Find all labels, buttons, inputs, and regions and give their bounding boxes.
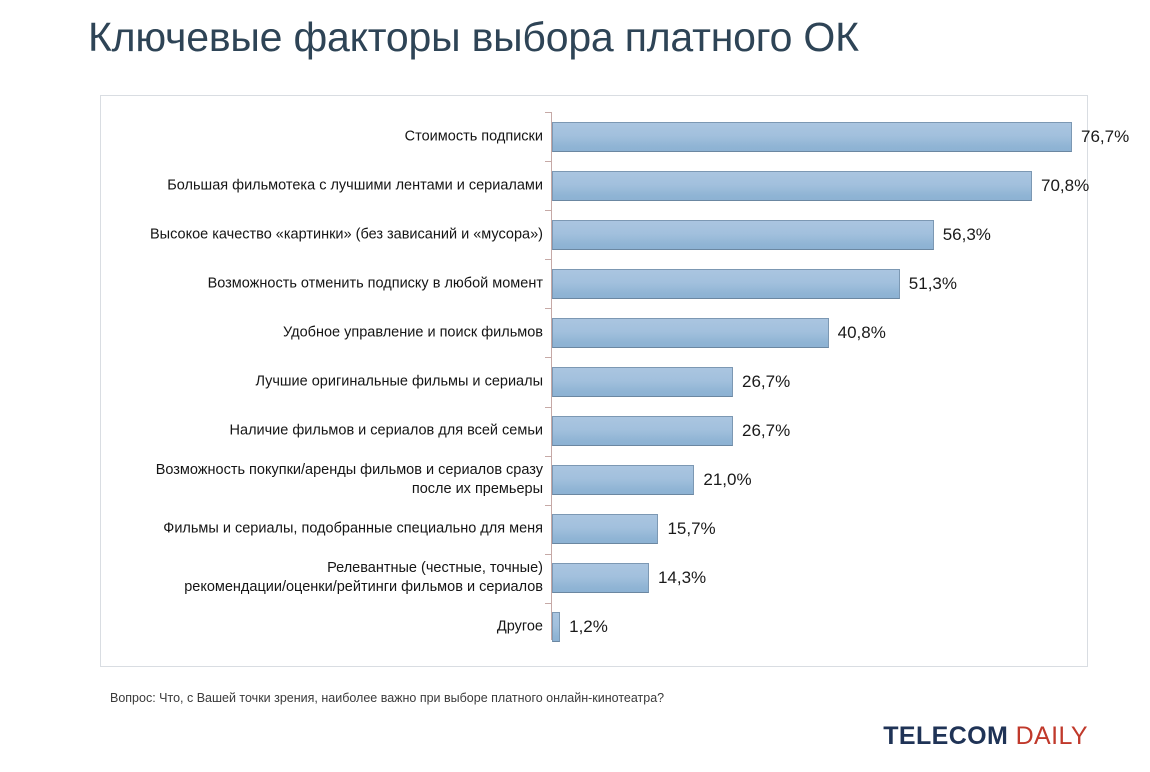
bar[interactable] [552, 122, 1072, 152]
bar-value-label: 1,2% [569, 617, 608, 637]
axis-tick [545, 505, 551, 506]
bar-value-label: 26,7% [742, 421, 790, 441]
chart-frame: Стоимость подписки76,7%Большая фильмотек… [100, 95, 1088, 667]
bar-category-label: Большая фильмотека с лучшими лентами и с… [103, 176, 543, 195]
axis-tick [545, 259, 551, 260]
bar[interactable] [552, 612, 560, 642]
logo-secondary-text: DAILY [1016, 722, 1088, 750]
bar[interactable] [552, 220, 934, 250]
telecom-daily-logo: TELECOM DAILY [883, 722, 1088, 751]
bar-chart-plot-area: Стоимость подписки76,7%Большая фильмотек… [101, 96, 1087, 666]
bar[interactable] [552, 514, 658, 544]
axis-tick [545, 112, 551, 113]
bar[interactable] [552, 563, 649, 593]
bar[interactable] [552, 465, 694, 495]
bar-row: Возможность отменить подписку в любой мо… [101, 259, 1087, 308]
bar[interactable] [552, 416, 733, 446]
axis-tick [545, 308, 551, 309]
bar-value-label: 70,8% [1041, 176, 1089, 196]
bar-category-label: Стоимость подписки [103, 127, 543, 146]
axis-tick [545, 407, 551, 408]
bar-row: Удобное управление и поиск фильмов40,8% [101, 308, 1087, 357]
bar-category-label: Возможность покупки/аренды фильмов и сер… [103, 461, 543, 499]
bar-value-label: 76,7% [1081, 127, 1129, 147]
bar-value-label: 14,3% [658, 568, 706, 588]
axis-tick [545, 161, 551, 162]
bar-value-label: 51,3% [909, 274, 957, 294]
bar-category-label: Удобное управление и поиск фильмов [103, 323, 543, 342]
axis-tick [545, 456, 551, 457]
bar-category-label: Фильмы и сериалы, подобранные специально… [103, 520, 543, 539]
bar-value-label: 40,8% [838, 323, 886, 343]
bar-category-label: Возможность отменить подписку в любой мо… [103, 274, 543, 293]
bar-category-label: Высокое качество «картинки» (без зависан… [103, 225, 543, 244]
page-title: Ключевые факторы выбора платного ОК [88, 14, 859, 61]
bar-row: Высокое качество «картинки» (без зависан… [101, 210, 1087, 259]
bar[interactable] [552, 318, 829, 348]
bar-row: Фильмы и сериалы, подобранные специально… [101, 505, 1087, 554]
bar-row: Наличие фильмов и сериалов для всей семь… [101, 407, 1087, 456]
chart-footnote: Вопрос: Что, с Вашей точки зрения, наибо… [110, 691, 664, 705]
bar[interactable] [552, 171, 1032, 201]
bar-category-label: Лучшие оригинальные фильмы и сериалы [103, 373, 543, 392]
bar-category-label: Наличие фильмов и сериалов для всей семь… [103, 422, 543, 441]
bar[interactable] [552, 269, 900, 299]
bar-value-label: 26,7% [742, 372, 790, 392]
bar-category-label: Релевантные (честные, точные) рекомендац… [103, 559, 543, 597]
axis-tick [545, 357, 551, 358]
bar-row: Возможность покупки/аренды фильмов и сер… [101, 456, 1087, 505]
axis-tick [545, 603, 551, 604]
bar-value-label: 21,0% [703, 470, 751, 490]
bar-row: Релевантные (честные, точные) рекомендац… [101, 554, 1087, 603]
bar-value-label: 56,3% [943, 225, 991, 245]
bar-row: Большая фильмотека с лучшими лентами и с… [101, 161, 1087, 210]
bar-row: Стоимость подписки76,7% [101, 112, 1087, 161]
bar[interactable] [552, 367, 733, 397]
axis-tick [545, 210, 551, 211]
bar-row: Другое1,2% [101, 603, 1087, 652]
bar-rows: Стоимость подписки76,7%Большая фильмотек… [101, 112, 1087, 652]
bar-category-label: Другое [103, 618, 543, 637]
axis-tick [545, 554, 551, 555]
bar-value-label: 15,7% [667, 519, 715, 539]
logo-primary-text: TELECOM [883, 722, 1008, 750]
bar-row: Лучшие оригинальные фильмы и сериалы26,7… [101, 357, 1087, 406]
